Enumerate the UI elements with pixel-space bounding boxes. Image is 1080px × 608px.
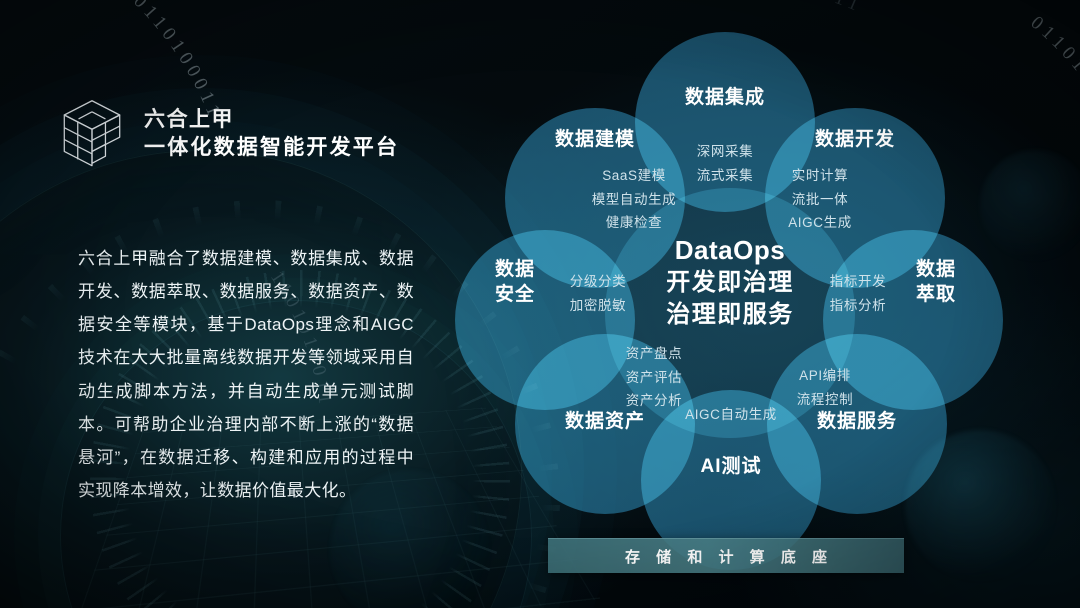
sublist-data-security: 分级分类 加密脱敏 <box>555 270 641 317</box>
core-line-governance: 开发即治理 <box>640 267 820 299</box>
core-statement: DataOps 开发即治理 治理即服务 <box>640 233 820 331</box>
sub-item: 实时计算 <box>765 164 875 188</box>
sublist-data-development: 实时计算 流批一体 AIGC生成 <box>765 164 875 235</box>
label-data-assets[interactable]: 数据资产 <box>547 410 663 434</box>
sub-item: 模型自动生成 <box>575 188 693 212</box>
sub-item: 指标开发 <box>815 270 901 294</box>
slide-canvas: 0110100011 011010110110 1101010011 01101… <box>0 0 1080 608</box>
label-data-modeling[interactable]: 数据建模 <box>540 128 650 152</box>
sub-item: 健康检查 <box>575 211 693 235</box>
sublist-data-extraction: 指标开发 指标分析 <box>815 270 901 317</box>
sub-item: SaaS建模 <box>575 164 693 188</box>
label-data-service[interactable]: 数据服务 <box>799 410 915 434</box>
core-line-dataops: DataOps <box>640 233 820 267</box>
intro-paragraph: 六合上甲融合了数据建模、数据集成、数据开发、数据萃取、数据服务、数据资产、数据安… <box>78 242 414 507</box>
capability-venn-diagram: 数据集成 深网采集 流式采集 数据建模 SaaS建模 模型自动生成 健康检查 数… <box>455 18 1055 528</box>
brand-subtitle: 一体化数据智能开发平台 <box>144 136 399 160</box>
label-data-extraction[interactable]: 数据萃取 <box>903 258 969 307</box>
sub-item: AIGC生成 <box>765 211 875 235</box>
sub-item: 流批一体 <box>765 188 875 212</box>
sub-item: 分级分类 <box>555 270 641 294</box>
foundation-bar-label: 存 储 和 计 算 底 座 <box>619 546 833 567</box>
sub-item: 资产评估 <box>603 366 705 390</box>
sub-item: 流程控制 <box>779 388 871 412</box>
brand-name: 六合上甲 <box>144 108 399 132</box>
sublist-ai-testing: AIGC自动生成 <box>671 403 791 427</box>
sub-item: 指标分析 <box>815 294 901 318</box>
sub-item: 深网采集 <box>670 140 780 164</box>
sub-item: 资产盘点 <box>603 342 705 366</box>
label-data-integration[interactable]: 数据集成 <box>670 86 780 110</box>
sub-item: AIGC自动生成 <box>671 403 791 427</box>
sublist-data-modeling: SaaS建模 模型自动生成 健康检查 <box>575 164 693 235</box>
label-data-security-text[interactable]: 数据安全 <box>480 258 550 307</box>
sub-item: 加密脱敏 <box>555 294 641 318</box>
label-data-development[interactable]: 数据开发 <box>800 128 910 152</box>
brand-block: 六合上甲 一体化数据智能开发平台 <box>56 96 399 172</box>
sublist-data-service: API编排 流程控制 <box>779 364 871 411</box>
label-ai-testing[interactable]: AI测试 <box>676 455 786 479</box>
brand-text: 六合上甲 一体化数据智能开发平台 <box>144 108 399 159</box>
core-line-service: 治理即服务 <box>640 299 820 331</box>
sub-item: API编排 <box>779 364 871 388</box>
foundation-bar[interactable]: 存 储 和 计 算 底 座 <box>548 538 904 573</box>
isometric-brick-corner-logo <box>56 96 128 172</box>
